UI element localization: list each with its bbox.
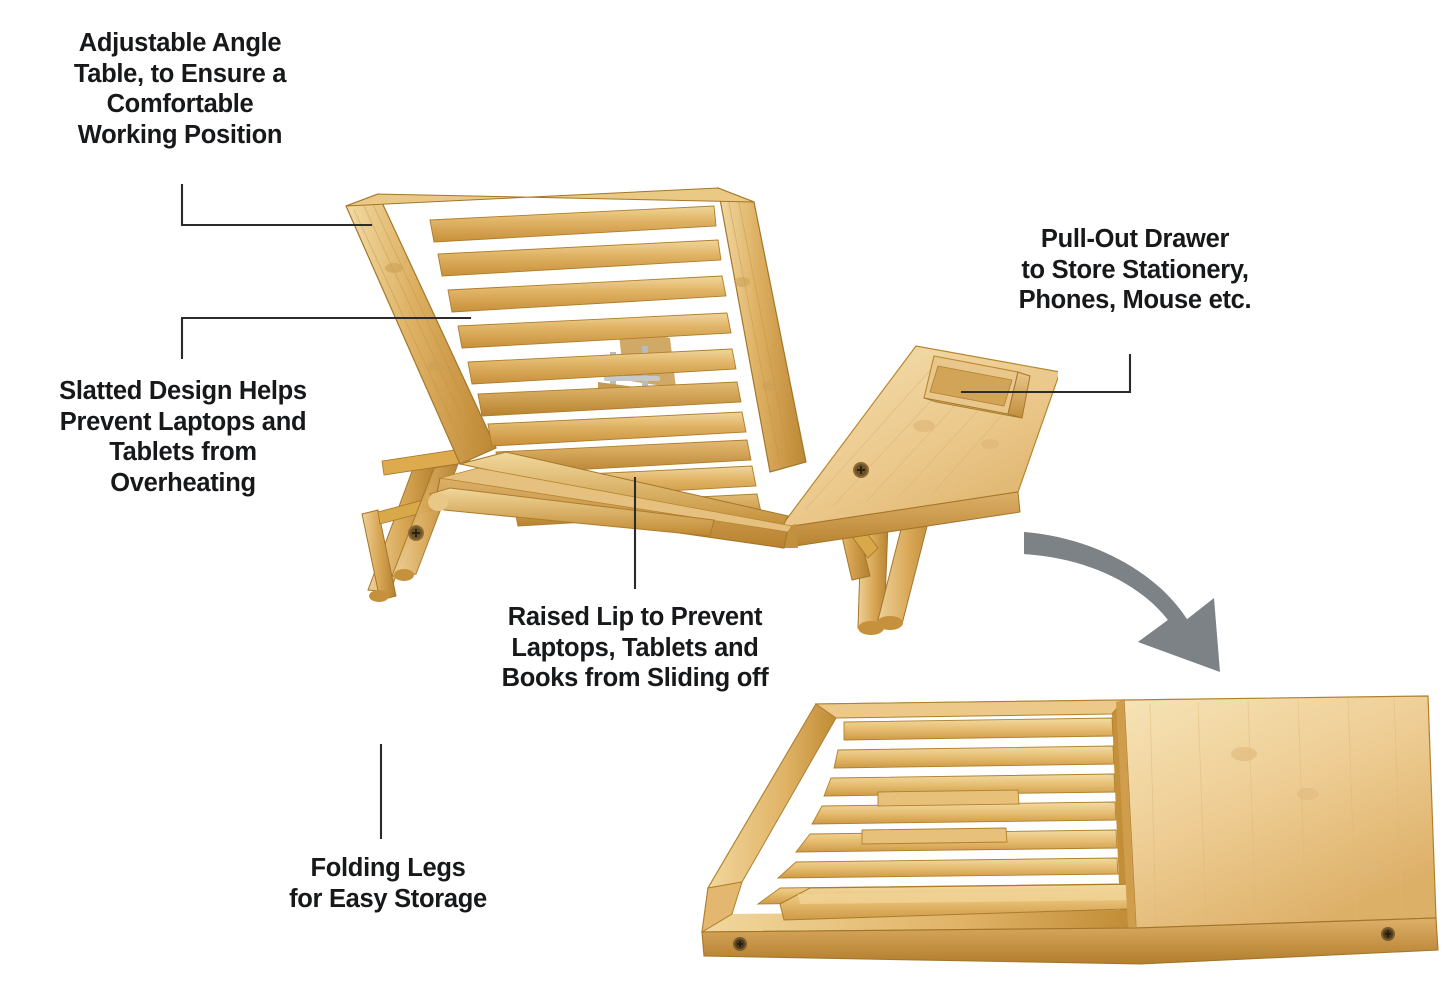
- callout-adjustable-angle: Adjustable Angle Table, to Ensure a Comf…: [30, 28, 330, 150]
- leader-pull-out-drawer: [962, 355, 1130, 392]
- callout-folding-legs: Folding Legs for Easy Storage: [258, 853, 518, 914]
- infographic-canvas: Adjustable Angle Table, to Ensure a Comf…: [0, 0, 1445, 990]
- callout-raised-lip: Raised Lip to Prevent Laptops, Tablets a…: [470, 602, 800, 694]
- callout-slatted-design: Slatted Design Helps Prevent Laptops and…: [18, 376, 348, 498]
- leader-slatted-design: [182, 318, 470, 358]
- leader-adjustable-angle: [182, 185, 371, 225]
- callout-pull-out-drawer: Pull-Out Drawer to Store Stationery, Pho…: [985, 224, 1285, 316]
